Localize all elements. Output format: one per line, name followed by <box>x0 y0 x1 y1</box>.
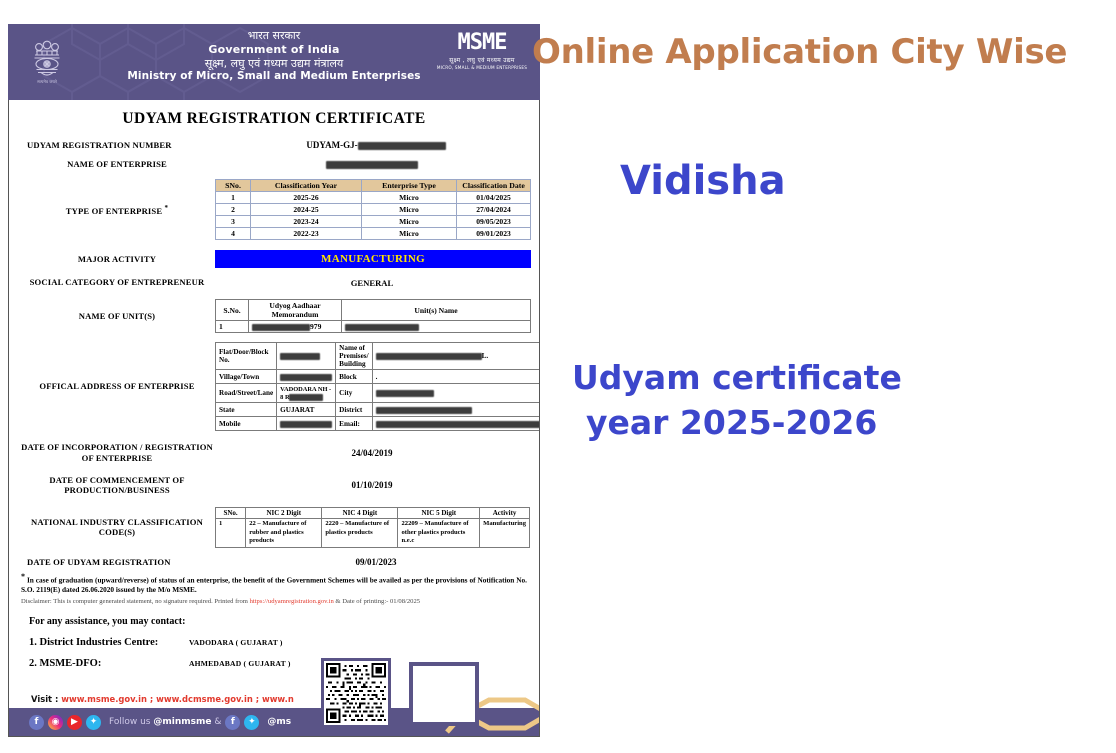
contact-label: 1. District Industries Centre: <box>29 637 189 648</box>
cell-date: 09/01/2023 <box>457 228 531 240</box>
enterprise-type-table-wrap: SNo. Classification Year Enterprise Type… <box>215 179 531 240</box>
overlay-city-name: Vidisha <box>620 158 786 204</box>
udyam-number-prefix: UDYAM-GJ- <box>306 140 357 150</box>
table-row: 1 22 – Manufacture of rubber and plastic… <box>216 519 530 548</box>
redaction-bar <box>345 324 419 331</box>
addr-value <box>372 417 540 431</box>
certificate-header-band: सत्यमेव जयते भारत सरकार Government of In… <box>8 24 540 100</box>
table-row: Village/Town Block . <box>216 370 541 384</box>
udyam-certificate-document: सत्यमेव जयते भारत सरकार Government of In… <box>8 24 540 739</box>
msme-logo-english: MICRO, SMALL & MEDIUM ENTERPRISES <box>434 65 530 70</box>
graduation-note-text: In case of graduation (upward/reverse) o… <box>21 575 527 594</box>
cell-sno: 1 <box>216 192 251 204</box>
disclaimer-text: Disclaimer: This is computer generated s… <box>9 595 539 606</box>
col-nic5: NIC 5 Digit <box>398 508 480 519</box>
enterprise-type-label: TYPE OF ENTERPRISE * <box>19 204 215 217</box>
cell-unit-name <box>342 321 531 333</box>
nic-label: NATIONAL INDUSTRY CLASSIFICATION CODE(S) <box>19 517 215 538</box>
col-classification-year: Classification Year <box>251 180 362 192</box>
commencement-value: 01/10/2019 <box>215 480 529 490</box>
table-header-row: S.No. Udyog Aadhaar Memorandum Unit(s) N… <box>216 300 531 321</box>
major-activity-row: MAJOR ACTIVITY MANUFACTURING <box>9 250 539 268</box>
col-sno: SNo. <box>216 508 246 519</box>
follow-text: Follow us @minmsme & <box>109 717 221 727</box>
address-row: OFFICAL ADDRESS OF ENTERPRISE Flat/Door/… <box>9 342 539 431</box>
addr-key: Road/Street/Lane <box>216 384 277 403</box>
addr-value: GUJARAT <box>277 403 336 417</box>
cell-uam: 979 <box>249 321 342 333</box>
incorporation-label: DATE OF INCORPORATION / REGISTRATION OF … <box>19 442 215 463</box>
cell-date: 27/04/2024 <box>457 204 531 216</box>
contact-dic: 1. District Industries Centre: VADODARA … <box>9 627 539 648</box>
msme-logo: MSME सूक्ष्म , लघु एवं मध्यम उद्यम MICRO… <box>434 32 530 70</box>
nic-row: NATIONAL INDUSTRY CLASSIFICATION CODE(S)… <box>9 507 539 548</box>
visit-links[interactable]: www.msme.gov.in ; www.dcmsme.gov.in ; ww… <box>61 694 288 704</box>
addr-key: State <box>216 403 277 417</box>
redaction-bar <box>376 390 434 397</box>
contact-label: 2. MSME-DFO: <box>29 658 189 669</box>
cell-type: Micro <box>362 216 457 228</box>
address-label: OFFICAL ADDRESS OF ENTERPRISE <box>19 381 215 392</box>
addr-value <box>372 403 540 417</box>
address-table: Flat/Door/Block No. Name of Premises/ Bu… <box>215 342 540 431</box>
col-unit-name: Unit(s) Name <box>342 300 531 321</box>
certificate-title: UDYAM REGISTRATION CERTIFICATE <box>9 100 539 140</box>
table-header-row: SNo. NIC 2 Digit NIC 4 Digit NIC 5 Digit… <box>216 508 530 519</box>
incorporation-row: DATE OF INCORPORATION / REGISTRATION OF … <box>9 442 539 463</box>
cell-uam-suffix: 979 <box>310 322 321 331</box>
visit-tail: n <box>288 694 294 704</box>
addr-value: . <box>372 370 540 384</box>
social-category-row: SOCIAL CATEGORY OF ENTREPRENEUR GENERAL <box>9 277 539 288</box>
table-row: 1 979 <box>216 321 531 333</box>
addr-key: City <box>336 384 372 403</box>
redaction-bar <box>376 353 482 360</box>
major-activity-value: MANUFACTURING <box>215 250 531 268</box>
addr-key: Flat/Door/Block No. <box>216 343 277 370</box>
redaction-bar <box>376 407 472 414</box>
table-row: 2 2024-25 Micro 27/04/2024 <box>216 204 531 216</box>
contact-value: VADODARA ( GUJARAT ) <box>189 638 283 647</box>
unit-name-label: NAME OF UNIT(S) <box>19 311 215 322</box>
overlay-cert-line2: year 2025-2026 <box>572 401 902 446</box>
follow-handle-secondary-wrap: @ms <box>267 717 291 727</box>
instagram-icon[interactable]: ◉ <box>48 715 63 730</box>
col-sno: S.No. <box>216 300 249 321</box>
msme-logo-mark: MSME <box>434 32 530 54</box>
assistance-heading: For any assistance, you may contact: <box>9 606 539 627</box>
redaction-bar <box>289 394 323 401</box>
cell-nic5: 22209 – Manufacture of other plastics pr… <box>398 519 480 548</box>
cell-year: 2025-26 <box>251 192 362 204</box>
table-row: Road/Street/Lane VADODARA NH - 8 ROAD Ci… <box>216 384 541 403</box>
table-row: 1 2025-26 Micro 01/04/2025 <box>216 192 531 204</box>
cell-year: 2023-24 <box>251 216 362 228</box>
enterprise-type-row: TYPE OF ENTERPRISE * SNo. Classification… <box>9 179 539 240</box>
table-row: 3 2023-24 Micro 09/05/2023 <box>216 216 531 228</box>
addr-key: District <box>336 403 372 417</box>
redaction-bar <box>280 353 320 360</box>
redaction-bar <box>326 161 418 169</box>
social-category-value: GENERAL <box>215 278 529 288</box>
registration-date-label: DATE OF UDYAM REGISTRATION <box>19 557 223 568</box>
udyam-number-label: UDYAM REGISTRATION NUMBER <box>19 140 223 151</box>
addr-key: Village/Town <box>216 370 277 384</box>
contact-value: AHMEDABAD ( GUJARAT ) <box>189 659 291 668</box>
cell-nic2: 22 – Manufacture of rubber and plastics … <box>246 519 322 548</box>
twitter-icon[interactable]: ✦ <box>86 715 101 730</box>
header-english-ministry: Ministry of Micro, Small and Medium Ente… <box>8 70 540 83</box>
redaction-bar <box>358 142 446 150</box>
qr-code-image <box>326 663 386 723</box>
col-sno: SNo. <box>216 180 251 192</box>
table-row: Mobile Email: <box>216 417 541 431</box>
cell-date: 09/05/2023 <box>457 216 531 228</box>
qr-code[interactable] <box>321 658 391 728</box>
addr-value <box>277 343 336 370</box>
col-nic4: NIC 4 Digit <box>322 508 398 519</box>
major-activity-label: MAJOR ACTIVITY <box>19 254 215 265</box>
table-row: Flat/Door/Block No. Name of Premises/ Bu… <box>216 343 541 370</box>
cell-activity: Manufacturing <box>480 519 530 548</box>
twitter-icon-secondary[interactable]: ✦ <box>244 715 259 730</box>
udyam-number-row: UDYAM REGISTRATION NUMBER UDYAM-GJ- <box>9 140 539 151</box>
addr-value <box>277 417 336 431</box>
addr-key: Name of Premises/ Building <box>336 343 372 370</box>
enterprise-name-label: NAME OF ENTERPRISE <box>19 159 215 170</box>
addr-value-tail: L. <box>482 352 489 360</box>
cell-sno: 4 <box>216 228 251 240</box>
commencement-row: DATE OF COMMENCEMENT OF PRODUCTION/BUSIN… <box>9 475 539 496</box>
follow-handle-msme[interactable]: @ms <box>267 717 291 727</box>
udyam-number-value: UDYAM-GJ- <box>223 140 529 150</box>
cell-year: 2022-23 <box>251 228 362 240</box>
cell-nic4: 2220 – Manufacture of plastics products <box>322 519 398 548</box>
msme-logo-hindi: सूक्ष्म , लघु एवं मध्यम उद्यम <box>434 56 530 64</box>
cell-type: Micro <box>362 228 457 240</box>
youtube-icon[interactable]: ▶ <box>67 715 82 730</box>
addr-key: Mobile <box>216 417 277 431</box>
addr-key: Email: <box>336 417 372 431</box>
table-row: 4 2022-23 Micro 09/01/2023 <box>216 228 531 240</box>
enterprise-name-value <box>215 159 529 169</box>
follow-amp: & <box>211 717 221 727</box>
graduation-note: * In case of graduation (upward/reverse)… <box>9 568 539 595</box>
addr-key: Block <box>336 370 372 384</box>
cell-type: Micro <box>362 192 457 204</box>
unit-name-table: S.No. Udyog Aadhaar Memorandum Unit(s) N… <box>215 299 531 333</box>
redaction-bar <box>280 374 332 381</box>
enterprise-type-star: * <box>165 204 169 212</box>
redaction-bar <box>280 421 332 428</box>
registration-date-value: 09/01/2023 <box>223 557 529 567</box>
follow-label: Follow us <box>109 717 153 727</box>
redaction-bar <box>376 421 540 428</box>
registration-date-row: DATE OF UDYAM REGISTRATION 09/01/2023 <box>9 557 539 568</box>
addr-value: L. <box>372 343 540 370</box>
enterprise-type-table: SNo. Classification Year Enterprise Type… <box>215 179 531 240</box>
cell-type: Micro <box>362 204 457 216</box>
overlay-title: Online Application City Wise <box>532 32 1067 72</box>
incorporation-value: 24/04/2019 <box>215 448 529 458</box>
social-category-label: SOCIAL CATEGORY OF ENTREPRENEUR <box>19 277 215 288</box>
cell-sno: 3 <box>216 216 251 228</box>
addr-value <box>277 370 336 384</box>
enterprise-type-label-text: TYPE OF ENTERPRISE <box>66 206 162 216</box>
visit-prefix: Visit : <box>31 694 61 704</box>
col-uam: Udyog Aadhaar Memorandum <box>249 300 342 321</box>
cell-sno: 1 <box>216 519 246 548</box>
cell-sno: 2 <box>216 204 251 216</box>
facebook-icon-secondary[interactable]: f <box>225 715 240 730</box>
table-header-row: SNo. Classification Year Enterprise Type… <box>216 180 531 192</box>
signature-placeholder-box <box>409 662 479 726</box>
col-classification-date: Classification Date <box>457 180 531 192</box>
addr-value: VADODARA NH - 8 ROAD <box>277 384 336 403</box>
redaction-bar <box>252 324 310 331</box>
col-enterprise-type: Enterprise Type <box>362 180 457 192</box>
certificate-body: UDYAM REGISTRATION CERTIFICATE UDYAM REG… <box>8 100 540 737</box>
overlay-certificate-year: Udyam certificate year 2025-2026 <box>572 356 902 445</box>
commencement-label: DATE OF COMMENCEMENT OF PRODUCTION/BUSIN… <box>19 475 215 496</box>
enterprise-name-row: NAME OF ENTERPRISE <box>9 159 539 170</box>
cell-date: 01/04/2025 <box>457 192 531 204</box>
nic-table: SNo. NIC 2 Digit NIC 4 Digit NIC 5 Digit… <box>215 507 530 548</box>
follow-handle-minmsme[interactable]: @minmsme <box>153 717 211 727</box>
col-activity: Activity <box>480 508 530 519</box>
unit-name-row: NAME OF UNIT(S) S.No. Udyog Aadhaar Memo… <box>9 299 539 333</box>
facebook-icon[interactable]: f <box>29 715 44 730</box>
overlay-cert-line1: Udyam certificate <box>572 356 902 401</box>
cell-sno: 1 <box>216 321 249 333</box>
addr-value <box>372 384 540 403</box>
disclaimer-prefix: Disclaimer: This is computer generated s… <box>21 598 250 605</box>
table-row: State GUJARAT District <box>216 403 541 417</box>
udyam-portal-link[interactable]: https://udyamregistration.gov.in <box>250 598 334 605</box>
cell-year: 2024-25 <box>251 204 362 216</box>
col-nic2: NIC 2 Digit <box>246 508 322 519</box>
disclaimer-suffix: & Date of printing:- 01/08/2025 <box>334 598 420 605</box>
